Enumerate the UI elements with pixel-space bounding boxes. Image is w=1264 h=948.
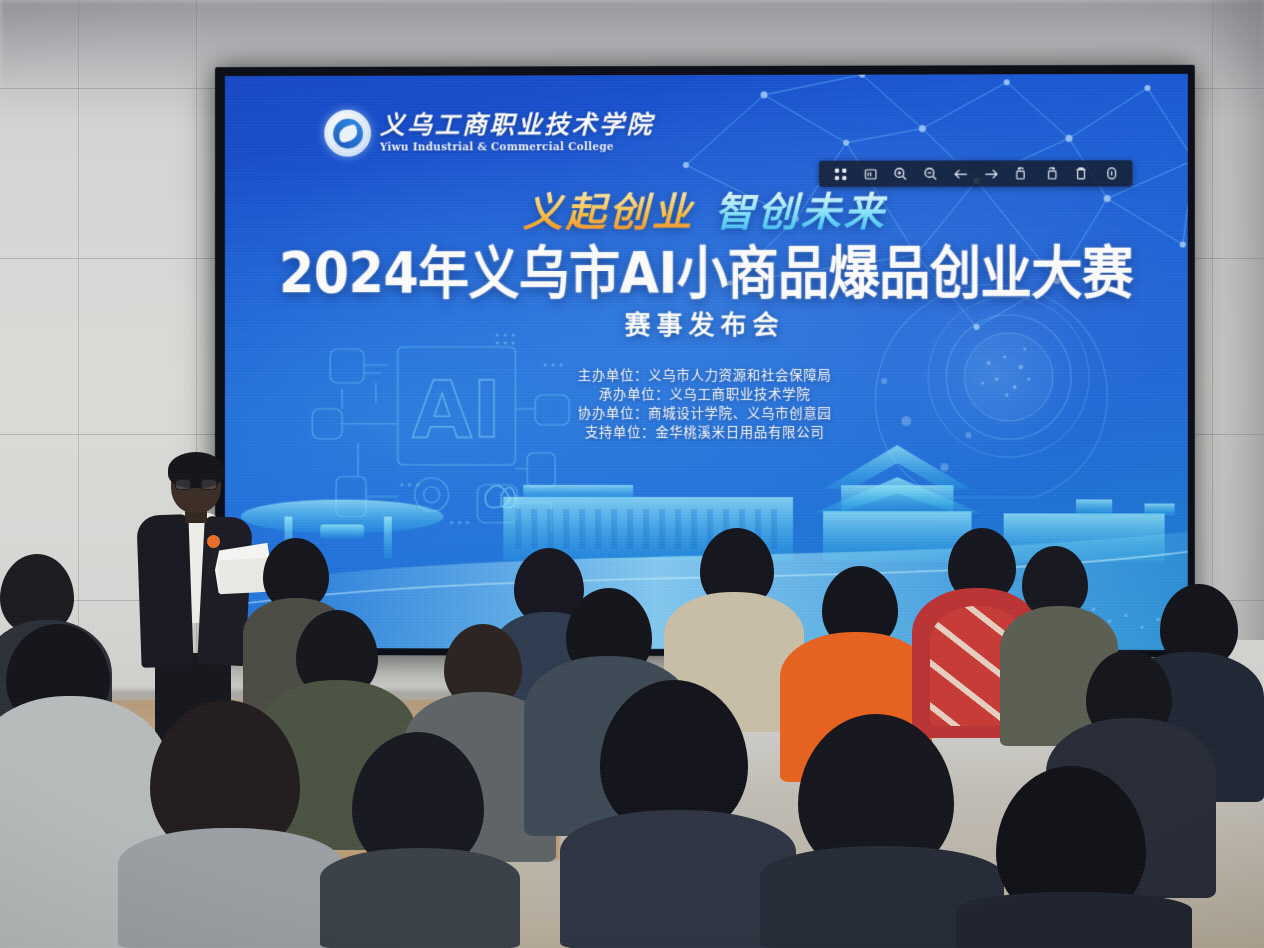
fullscreen-icon[interactable] [825,163,855,185]
audience-body [320,848,520,948]
zoom-out-icon[interactable] [915,163,945,185]
audience [0,528,1264,948]
previous-icon[interactable] [945,163,975,185]
audience-body [956,892,1192,948]
next-icon[interactable] [976,163,1006,185]
rotate-right-icon[interactable] [1036,162,1066,184]
audience-body [118,828,342,948]
rotate-left-icon[interactable] [1006,162,1036,184]
fit-window-icon[interactable] [855,163,885,185]
media-player-toolbar[interactable] [819,160,1132,187]
glasses-icon [175,479,217,490]
zoom-in-icon[interactable] [885,163,915,185]
delete-icon[interactable] [1066,162,1096,184]
screenshot-root: AI [0,0,1264,948]
info-icon[interactable] [1096,162,1126,184]
